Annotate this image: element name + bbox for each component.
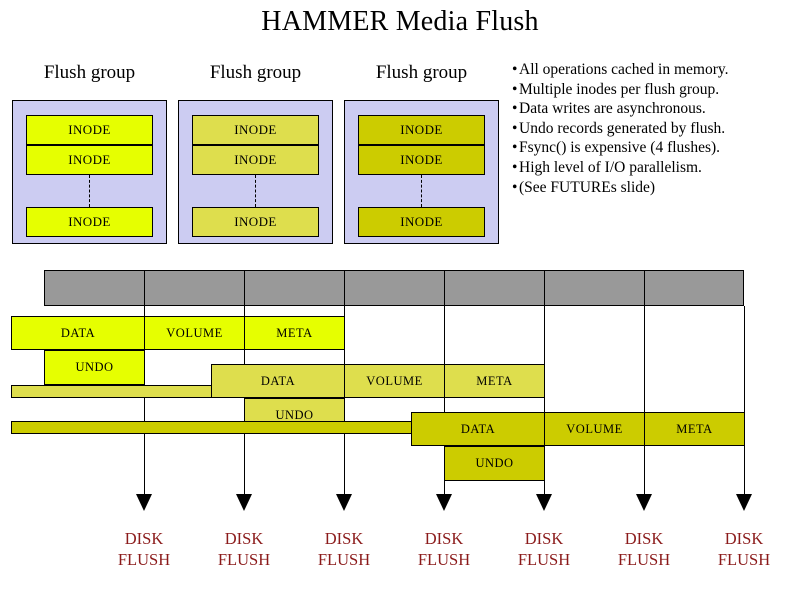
- gray-bar-divider: [144, 270, 145, 306]
- flush-cell-undo-3[interactable]: UNDO: [444, 446, 545, 481]
- list-item-label: Undo records generated by flush.: [519, 120, 725, 137]
- disk-flush-label: DISK FLUSH: [389, 528, 499, 570]
- list-item-label: Fsync() is expensive (4 flushes).: [519, 139, 720, 156]
- bullet-dot-icon: •: [512, 60, 519, 80]
- inode-link-dashed: [255, 175, 256, 207]
- inode-box[interactable]: INODE: [26, 115, 153, 145]
- flush-cell-volume-1[interactable]: VOLUME: [144, 316, 245, 350]
- flush-group-title-2: Flush group: [178, 62, 333, 84]
- bullet-dot-icon: •: [512, 158, 519, 178]
- bullet-list: •All operations cached in memory. •Multi…: [512, 60, 800, 197]
- list-item: •Data writes are asynchronous.: [512, 99, 800, 119]
- inode-box[interactable]: INODE: [192, 207, 319, 237]
- inode-link-dashed: [89, 175, 90, 207]
- disk-flush-label: DISK FLUSH: [289, 528, 399, 570]
- down-arrow-icon: [736, 494, 752, 511]
- inode-link-dashed: [421, 175, 422, 207]
- gray-bar-divider: [644, 270, 645, 306]
- inode-box[interactable]: INODE: [192, 115, 319, 145]
- flush-tail-bar-2: [11, 421, 412, 434]
- disk-flush-label: DISK FLUSH: [189, 528, 299, 570]
- gray-bar-divider: [244, 270, 245, 306]
- list-item: •Undo records generated by flush.: [512, 119, 800, 139]
- flush-cell-undo-1[interactable]: UNDO: [44, 350, 145, 385]
- bullet-dot-icon: •: [512, 119, 519, 139]
- flush-tail-bar-1: [11, 385, 212, 398]
- list-item-label: Data writes are asynchronous.: [519, 100, 706, 117]
- disk-flush-label: DISK FLUSH: [589, 528, 699, 570]
- list-item-label: All operations cached in memory.: [519, 61, 728, 78]
- flush-tick-line: [744, 306, 745, 496]
- list-item: •All operations cached in memory.: [512, 60, 800, 80]
- flush-cell-volume-2[interactable]: VOLUME: [344, 364, 445, 398]
- list-item: •High level of I/O parallelism.: [512, 158, 800, 178]
- flush-cell-meta-1[interactable]: META: [244, 316, 345, 350]
- flush-tick-line: [644, 306, 645, 496]
- flush-group-title-3: Flush group: [344, 62, 499, 84]
- list-item-label: Multiple inodes per flush group.: [519, 81, 719, 98]
- disk-flush-label: DISK FLUSH: [489, 528, 599, 570]
- gray-bar-divider: [544, 270, 545, 306]
- inode-box[interactable]: INODE: [192, 145, 319, 175]
- timeline-gray-bar: [44, 270, 744, 306]
- down-arrow-icon: [236, 494, 252, 511]
- disk-flush-label: DISK FLUSH: [689, 528, 799, 570]
- list-item: •Fsync() is expensive (4 flushes).: [512, 138, 800, 158]
- inode-box[interactable]: INODE: [358, 145, 485, 175]
- down-arrow-icon: [336, 494, 352, 511]
- list-item-label: High level of I/O parallelism.: [519, 159, 702, 176]
- bullet-dot-icon: •: [512, 178, 519, 198]
- inode-box[interactable]: INODE: [26, 207, 153, 237]
- disk-flush-label: DISK FLUSH: [89, 528, 199, 570]
- down-arrow-icon: [436, 494, 452, 511]
- bullet-dot-icon: •: [512, 80, 519, 100]
- flush-group-title-1: Flush group: [12, 62, 167, 84]
- flush-cell-volume-3[interactable]: VOLUME: [544, 412, 645, 446]
- list-item-label: (See FUTUREs slide): [519, 179, 655, 196]
- gray-bar-divider: [444, 270, 445, 306]
- flush-cell-data-1[interactable]: DATA: [11, 316, 145, 350]
- down-arrow-icon: [136, 494, 152, 511]
- bullet-dot-icon: •: [512, 99, 519, 119]
- down-arrow-icon: [536, 494, 552, 511]
- bullet-dot-icon: •: [512, 138, 519, 158]
- slide-canvas: HAMMER Media Flush Flush group INODE INO…: [0, 0, 800, 600]
- page-title: HAMMER Media Flush: [0, 6, 800, 38]
- inode-box[interactable]: INODE: [26, 145, 153, 175]
- inode-box[interactable]: INODE: [358, 207, 485, 237]
- gray-bar-divider: [344, 270, 345, 306]
- flush-cell-meta-2[interactable]: META: [444, 364, 545, 398]
- down-arrow-icon: [636, 494, 652, 511]
- list-item: •(See FUTUREs slide): [512, 178, 800, 198]
- flush-cell-data-2[interactable]: DATA: [211, 364, 345, 398]
- inode-box[interactable]: INODE: [358, 115, 485, 145]
- list-item: •Multiple inodes per flush group.: [512, 80, 800, 100]
- flush-cell-meta-3[interactable]: META: [644, 412, 745, 446]
- flush-cell-data-3[interactable]: DATA: [411, 412, 545, 446]
